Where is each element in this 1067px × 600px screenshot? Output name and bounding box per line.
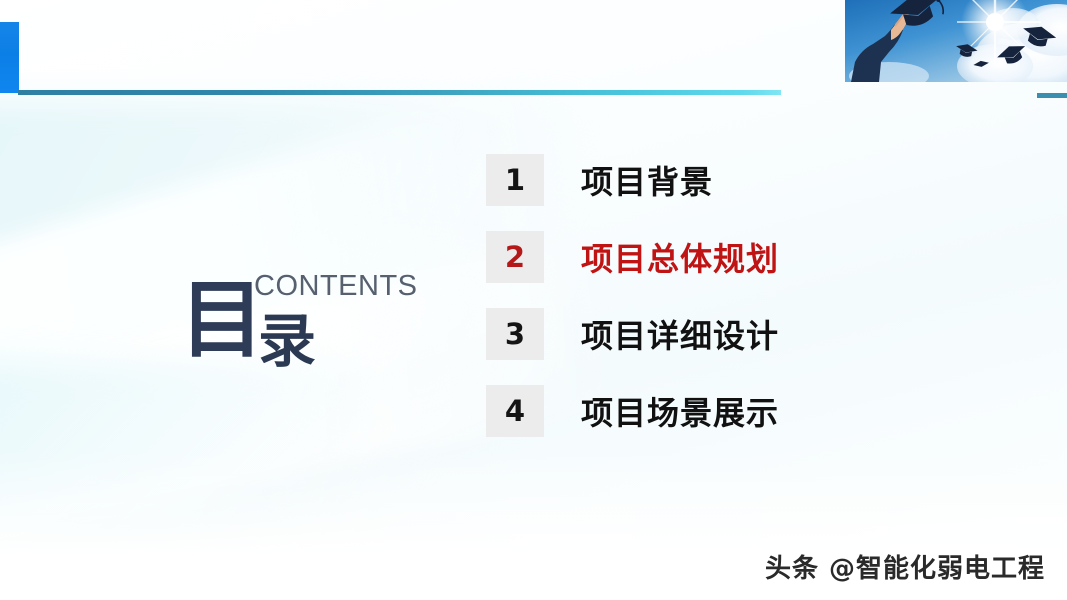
toc-item-label: 项目背景 (581, 157, 713, 203)
header-divider-tail (1037, 93, 1067, 98)
toc-number-badge: 3 (486, 308, 544, 360)
watermark-text: 头条 @智能化弱电工程 (765, 548, 1045, 585)
contents-english-label: CONTENTS (254, 270, 418, 303)
toc-item-label: 项目详细设计 (581, 311, 779, 357)
contents-heading: 目录 CONTENTS (180, 270, 420, 385)
header-divider-line (18, 90, 781, 95)
toc-item-1[interactable]: 1 项目背景 (486, 152, 916, 208)
accent-bar (0, 22, 19, 93)
toc-item-4[interactable]: 4 项目场景展示 (486, 383, 916, 439)
toc-item-2[interactable]: 2 项目总体规划 (486, 229, 916, 285)
toc-number-badge: 2 (486, 231, 544, 283)
contents-char-lu: 录 (258, 307, 314, 375)
table-of-contents: 1 项目背景 2 项目总体规划 3 项目详细设计 4 项目场景展示 (486, 152, 916, 460)
contents-char-mu: 目 (180, 271, 262, 369)
toc-item-3[interactable]: 3 项目详细设计 (486, 306, 916, 362)
agenda-slide: 目录 CONTENTS 1 项目背景 2 项目总体规划 3 项目详细设计 4 项… (0, 0, 1067, 600)
toc-number-badge: 4 (486, 385, 544, 437)
toc-item-label: 项目总体规划 (581, 234, 779, 280)
graduation-photo (845, 0, 1067, 82)
toc-item-label: 项目场景展示 (581, 388, 779, 434)
toc-number-badge: 1 (486, 154, 544, 206)
